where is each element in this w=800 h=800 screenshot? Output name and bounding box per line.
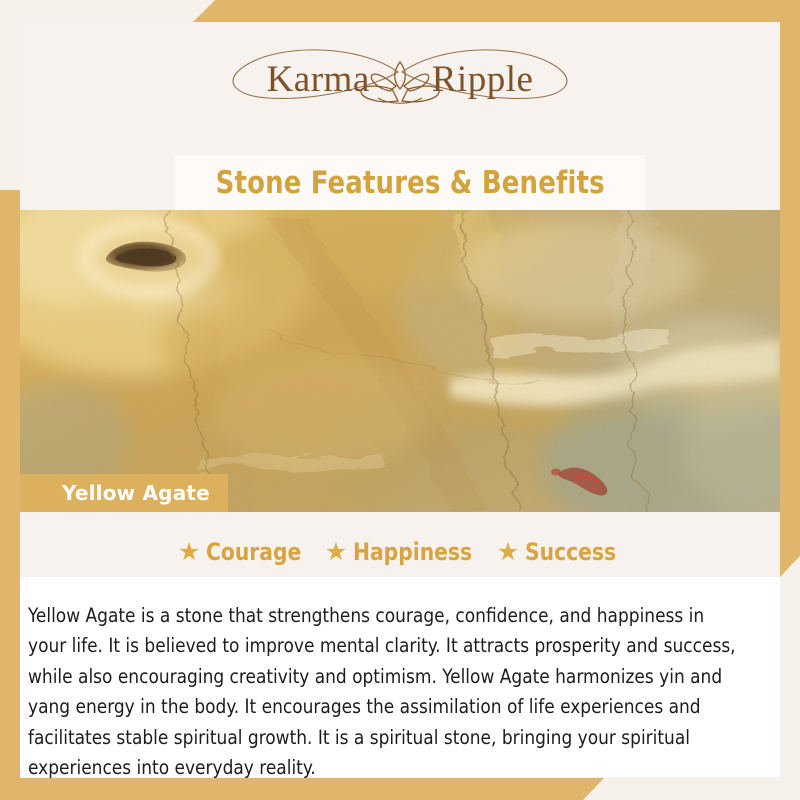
description-text: Yellow Agate is a stone that strengthens… bbox=[28, 601, 746, 778]
frame-band-bottom bbox=[0, 777, 605, 800]
star-icon: ★ bbox=[325, 540, 347, 565]
keyword-item: ★ Courage bbox=[178, 538, 308, 566]
card-page: KarmaRipple bbox=[20, 22, 780, 778]
star-icon: ★ bbox=[497, 540, 519, 565]
stone-name-label: Yellow Agate bbox=[62, 481, 210, 505]
agate-texture-graphic bbox=[20, 210, 780, 512]
keyword-label: Courage bbox=[206, 538, 301, 566]
brand-name: KarmaRipple bbox=[20, 58, 780, 101]
frame-band-top bbox=[192, 0, 800, 23]
description-panel: Yellow Agate is a stone that strengthens… bbox=[20, 577, 780, 777]
infographic-card: KarmaRipple bbox=[0, 0, 800, 800]
brand-logo: KarmaRipple bbox=[20, 22, 780, 142]
stone-image bbox=[20, 210, 780, 512]
stone-name-badge: Yellow Agate bbox=[20, 474, 228, 512]
keyword-item: ★ Happiness bbox=[325, 538, 480, 566]
section-title-panel: Stone Features & Benefits bbox=[175, 155, 645, 210]
keyword-item: ★ Success bbox=[497, 538, 622, 566]
frame-band-right bbox=[777, 0, 800, 580]
keyword-label: Happiness bbox=[353, 538, 472, 566]
star-icon: ★ bbox=[178, 540, 200, 565]
keyword-label: Success bbox=[525, 538, 616, 566]
keyword-list: ★ Courage ★ Happiness ★ Success bbox=[20, 538, 780, 566]
brand-name-left: Karma bbox=[267, 58, 370, 101]
page-title: Stone Features & Benefits bbox=[215, 165, 604, 201]
brand-name-right: Ripple bbox=[432, 58, 534, 101]
